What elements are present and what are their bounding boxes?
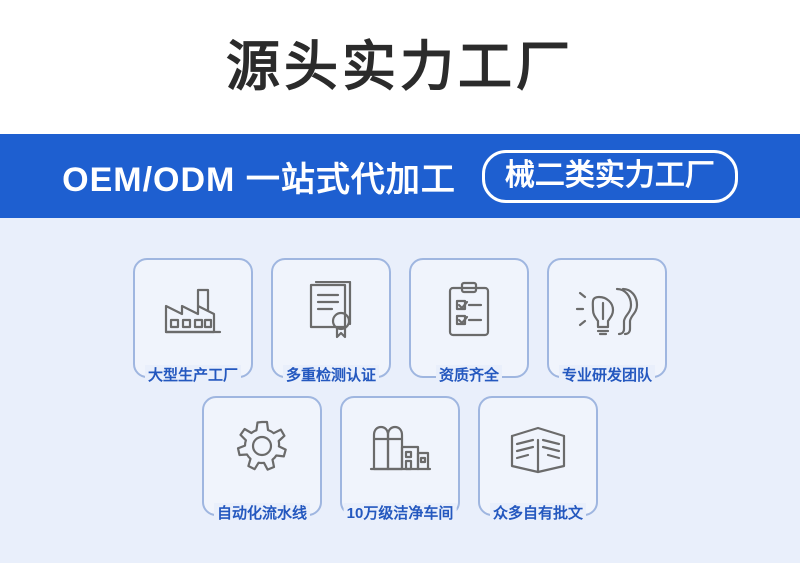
feature-card-cleanroom[interactable]: 10万级洁净车间: [340, 396, 460, 516]
feature-card-qualification[interactable]: 资质齐全: [409, 258, 529, 378]
feature-card-factory[interactable]: 大型生产工厂: [133, 258, 253, 378]
band-badge: 械二类实力工厂: [482, 150, 738, 203]
feature-row-2: 自动化流水线: [202, 396, 598, 516]
feature-label: 自动化流水线: [214, 503, 310, 525]
feature-card-approvals[interactable]: 众多自有批文: [478, 396, 598, 516]
certificate-icon: [305, 281, 357, 339]
feature-label: 众多自有批文: [490, 503, 586, 525]
feature-label: 资质齐全: [436, 365, 502, 387]
documents-icon: [508, 422, 568, 474]
feature-label: 10万级洁净车间: [344, 503, 457, 525]
feature-card-rd-team[interactable]: 专业研发团队: [547, 258, 667, 378]
feature-row-1: 大型生产工厂 多重检测认证: [133, 258, 667, 378]
feature-card-certificate[interactable]: 多重检测认证: [271, 258, 391, 378]
feature-label: 多重检测认证: [283, 365, 379, 387]
feature-label: 大型生产工厂: [145, 365, 241, 387]
clipboard-checklist-icon: [445, 281, 493, 339]
silo-plant-icon: [368, 421, 432, 475]
feature-card-automation[interactable]: 自动化流水线: [202, 396, 322, 516]
band-headline: OEM/ODM 一站式代加工: [62, 152, 456, 201]
gear-icon: [233, 419, 291, 477]
highlight-band: OEM/ODM 一站式代加工 械二类实力工厂: [0, 134, 800, 218]
title-area: 源头实力工厂: [0, 0, 800, 134]
feature-grid: 大型生产工厂 多重检测认证: [0, 218, 800, 563]
lightbulb-team-icon: [573, 283, 641, 337]
page-title: 源头实力工厂: [226, 40, 574, 94]
factory-icon: [162, 284, 224, 336]
promo-banner: 源头实力工厂 OEM/ODM 一站式代加工 械二类实力工厂: [0, 0, 800, 563]
feature-label: 专业研发团队: [559, 365, 655, 387]
